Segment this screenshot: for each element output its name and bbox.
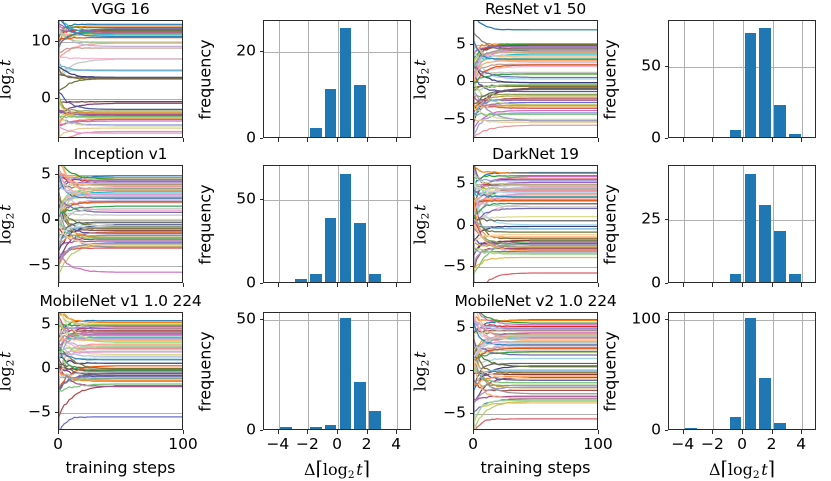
- histogram-bar: [310, 128, 322, 137]
- y-axis-label-vgg16-hist: frequency: [196, 6, 215, 154]
- x-tick: [772, 430, 773, 434]
- y-axis-label-mobilenetv2-hist: frequency: [601, 298, 620, 446]
- x-tick: [801, 138, 802, 142]
- line-series: [59, 101, 182, 102]
- y-tick: [260, 319, 264, 320]
- x-tick: [801, 430, 802, 434]
- histogram-bar: [280, 427, 292, 429]
- line-series: [474, 218, 597, 221]
- y-tick: [470, 81, 474, 82]
- line-series: [59, 43, 182, 59]
- y-tick: [55, 412, 59, 413]
- histogram-bar: [789, 274, 801, 282]
- y-axis-label-mobilenetv1-hist: frequency: [196, 298, 215, 446]
- histogram-bar: [730, 417, 742, 429]
- histogram-bar: [774, 231, 786, 282]
- line-series: [474, 342, 597, 373]
- line-series: [59, 59, 182, 75]
- panel-title-resnetv150-lines: ResNet v1 50: [413, 1, 658, 17]
- x-tick: [337, 138, 338, 142]
- x-tick: [396, 283, 397, 287]
- line-series: [474, 273, 597, 282]
- line-series: [474, 125, 597, 137]
- x-tick: [683, 430, 684, 434]
- line-series-group: [474, 313, 597, 429]
- y-tick-label: −5: [415, 259, 466, 275]
- gridline-vertical: [713, 313, 714, 429]
- y-tick-label: 5: [415, 320, 466, 336]
- y-tick: [55, 174, 59, 175]
- line-series: [59, 384, 182, 391]
- x-axis-label-mobilenetv2-hist: Δ⌈log2 t⌉: [618, 458, 831, 481]
- line-series-group: [59, 166, 182, 282]
- histogram-bar: [774, 423, 786, 429]
- gridline-horizontal: [669, 220, 815, 221]
- panel-title-darknet19-lines: DarkNet 19: [413, 146, 658, 162]
- panel-title-mobilenetv2-lines: MobileNet v2 1.0 224: [413, 293, 658, 309]
- x-tick-label: 0: [332, 437, 342, 453]
- gridline-vertical: [397, 313, 398, 429]
- line-series: [59, 417, 182, 429]
- y-tick: [665, 283, 669, 284]
- x-tick: [801, 283, 802, 287]
- y-tick: [470, 119, 474, 120]
- gridline-horizontal: [264, 320, 410, 321]
- gridline-vertical: [802, 21, 803, 137]
- histogram-bar: [325, 218, 337, 282]
- plot-area-resnetv150-hist: [668, 20, 816, 138]
- x-tick-label: 100: [168, 437, 198, 453]
- gridline-horizontal: [264, 200, 410, 201]
- histogram-bar: [354, 223, 366, 282]
- histogram-bar: [730, 274, 742, 282]
- gridline-vertical: [713, 166, 714, 282]
- x-tick: [337, 430, 338, 434]
- x-tick: [742, 430, 743, 434]
- gridline-vertical: [802, 166, 803, 282]
- x-tick: [598, 138, 599, 142]
- gridline-vertical: [684, 166, 685, 282]
- x-tick: [183, 430, 184, 434]
- histogram-bar: [340, 28, 352, 137]
- plot-area-resnetv150-lines: [473, 20, 598, 138]
- line-series: [59, 253, 182, 272]
- histogram-bar: [759, 28, 771, 137]
- x-tick: [712, 430, 713, 434]
- gridline-vertical: [308, 313, 309, 429]
- x-tick: [278, 430, 279, 434]
- x-tick: [772, 283, 773, 287]
- histogram-bar: [354, 85, 366, 137]
- plot-area-vgg16-lines: [58, 20, 183, 138]
- histogram-bar: [685, 428, 697, 429]
- figure-grid: VGG 16010log2 t020frequencyResNet v1 50−…: [0, 0, 831, 474]
- gridline-vertical: [713, 21, 714, 137]
- x-tick: [598, 430, 599, 434]
- line-series: [474, 21, 597, 30]
- histogram-bar: [354, 382, 366, 429]
- x-axis-label-mobilenetv2-lines: training steps: [423, 458, 648, 477]
- y-axis-label-vgg16-lines: log2 t: [0, 44, 16, 114]
- x-tick: [58, 138, 59, 142]
- histogram-bar: [789, 134, 801, 137]
- line-series-group: [474, 21, 597, 137]
- y-tick: [260, 138, 264, 139]
- y-tick: [55, 219, 59, 220]
- y-tick: [55, 265, 59, 266]
- y-tick-label: −5: [0, 405, 51, 421]
- line-series: [474, 419, 597, 429]
- y-axis-label-darknet19-hist: frequency: [601, 151, 620, 299]
- x-tick: [396, 430, 397, 434]
- x-tick: [307, 430, 308, 434]
- y-tick-label: 5: [0, 166, 51, 182]
- x-tick: [183, 283, 184, 287]
- y-tick: [665, 430, 669, 431]
- histogram-bar: [310, 274, 322, 282]
- histogram-bar: [369, 411, 381, 429]
- x-tick: [337, 283, 338, 287]
- plot-area-darknet19-lines: [473, 165, 598, 283]
- histogram-bar: [340, 318, 352, 429]
- plot-area-darknet19-hist: [668, 165, 816, 283]
- plot-area-mobilenetv2-hist: [668, 312, 816, 430]
- x-tick: [58, 430, 59, 434]
- y-axis-label-resnetv150-hist: frequency: [601, 6, 620, 154]
- y-tick: [470, 327, 474, 328]
- x-tick: [307, 138, 308, 142]
- x-tick-label: 0: [737, 437, 747, 453]
- gridline-vertical: [368, 166, 369, 282]
- y-axis-label-mobilenetv1-lines: log2 t: [0, 336, 16, 406]
- x-tick: [367, 430, 368, 434]
- line-series-group: [59, 21, 182, 137]
- x-tick: [712, 138, 713, 142]
- y-axis-label-mobilenetv2-lines: log2 t: [411, 336, 432, 406]
- x-tick: [367, 138, 368, 142]
- plot-area-vgg16-hist: [263, 20, 411, 138]
- y-tick: [665, 138, 669, 139]
- histogram-bar: [745, 33, 757, 137]
- x-tick-label: −4: [671, 437, 694, 453]
- y-tick: [55, 324, 59, 325]
- plot-area-mobilenetv1-lines: [58, 312, 183, 430]
- line-series: [59, 48, 182, 53]
- y-tick: [260, 51, 264, 52]
- x-tick: [683, 283, 684, 287]
- y-tick: [665, 219, 669, 220]
- line-series: [59, 37, 182, 40]
- x-tick: [473, 283, 474, 287]
- plot-area-mobilenetv1-hist: [263, 312, 411, 430]
- y-tick: [55, 41, 59, 42]
- plot-area-inceptionv1-hist: [263, 165, 411, 283]
- x-tick: [772, 138, 773, 142]
- x-tick: [712, 283, 713, 287]
- y-tick-label: −5: [415, 405, 466, 421]
- line-series: [59, 78, 182, 90]
- x-tick: [598, 283, 599, 287]
- line-series: [59, 386, 182, 417]
- histogram-bar: [745, 318, 757, 429]
- histogram-bar: [310, 427, 322, 429]
- line-series: [474, 403, 597, 421]
- histogram-bar: [325, 425, 337, 429]
- gridline-vertical: [279, 166, 280, 282]
- gridline-vertical: [279, 21, 280, 137]
- line-series: [474, 257, 597, 269]
- plot-area-mobilenetv2-lines: [473, 312, 598, 430]
- y-tick: [260, 199, 264, 200]
- histogram-bar: [340, 174, 352, 282]
- x-tick: [278, 138, 279, 142]
- x-tick: [742, 138, 743, 142]
- y-tick: [55, 98, 59, 99]
- x-tick: [683, 138, 684, 142]
- x-tick-label: −2: [701, 437, 724, 453]
- y-tick: [470, 266, 474, 267]
- x-tick: [473, 430, 474, 434]
- x-tick-label: 2: [767, 437, 777, 453]
- y-tick: [260, 430, 264, 431]
- line-series: [474, 401, 597, 429]
- x-tick-label: −2: [296, 437, 319, 453]
- y-tick: [470, 44, 474, 45]
- gridline-vertical: [684, 313, 685, 429]
- x-tick-label: 2: [362, 437, 372, 453]
- gridline-horizontal: [669, 67, 815, 68]
- x-tick-label: 4: [796, 437, 806, 453]
- gridline-vertical: [802, 313, 803, 429]
- histogram-bar: [325, 89, 337, 137]
- line-series-group: [474, 166, 597, 282]
- histogram-bar: [745, 174, 757, 282]
- gridline-vertical: [308, 166, 309, 282]
- line-series: [59, 92, 182, 109]
- gridline-vertical: [279, 313, 280, 429]
- gridline-vertical: [397, 21, 398, 137]
- histogram-bar: [759, 378, 771, 429]
- gridline-vertical: [397, 166, 398, 282]
- x-tick-label: 4: [391, 437, 401, 453]
- y-tick: [470, 183, 474, 184]
- histogram-bar: [774, 105, 786, 137]
- x-tick-label: 0: [53, 437, 63, 453]
- y-axis-label-inceptionv1-lines: log2 t: [0, 189, 16, 259]
- x-axis-label-mobilenetv1-lines: training steps: [8, 458, 233, 477]
- x-tick: [307, 283, 308, 287]
- x-tick: [742, 283, 743, 287]
- x-tick: [183, 138, 184, 142]
- gridline-vertical: [773, 313, 774, 429]
- y-tick: [470, 225, 474, 226]
- histogram-bar: [730, 130, 742, 137]
- histogram-bar: [759, 205, 771, 282]
- histogram-bar: [369, 274, 381, 282]
- y-tick: [470, 413, 474, 414]
- y-tick: [665, 319, 669, 320]
- x-tick: [396, 138, 397, 142]
- y-axis-label-darknet19-lines: log2 t: [411, 189, 432, 259]
- x-tick: [367, 283, 368, 287]
- y-tick: [665, 66, 669, 67]
- gridline-vertical: [368, 21, 369, 137]
- y-tick: [470, 370, 474, 371]
- gridline-vertical: [308, 21, 309, 137]
- x-tick-label: −4: [266, 437, 289, 453]
- y-tick: [55, 368, 59, 369]
- x-tick: [473, 138, 474, 142]
- x-tick: [278, 283, 279, 287]
- gridline-horizontal: [669, 320, 815, 321]
- line-series: [59, 219, 182, 221]
- histogram-bar: [295, 279, 307, 282]
- y-axis-label-inceptionv1-hist: frequency: [196, 151, 215, 299]
- y-tick: [260, 283, 264, 284]
- line-series-group: [59, 313, 182, 429]
- x-tick: [58, 283, 59, 287]
- gridline-vertical: [684, 21, 685, 137]
- y-tick-label: 5: [0, 317, 51, 333]
- x-tick-label: 0: [468, 437, 478, 453]
- gridline-horizontal: [264, 52, 410, 53]
- y-axis-label-resnetv150-lines: log2 t: [411, 44, 432, 114]
- plot-area-inceptionv1-lines: [58, 165, 183, 283]
- line-series: [59, 67, 182, 77]
